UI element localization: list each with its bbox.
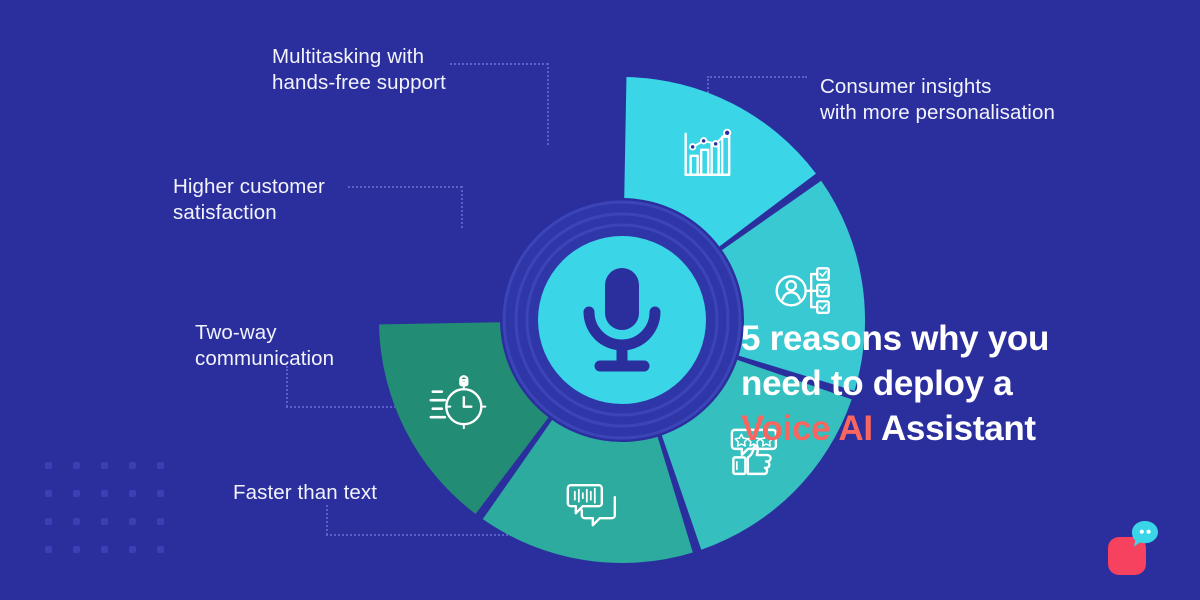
dot-grid-dot — [101, 462, 108, 469]
dot-grid-dot — [45, 546, 52, 553]
segment-label-higher-satisfaction: Higher customer satisfaction — [173, 174, 325, 225]
dot-grid-dot — [157, 546, 164, 553]
dot-grid-dot — [101, 546, 108, 553]
headline-line-3-rest: Assistant — [873, 409, 1036, 448]
segment-label-consumer-insights: Consumer insights with more personalisat… — [820, 74, 1055, 125]
dot-grid-row — [45, 546, 185, 574]
segment-label-multitasking: Multitasking with hands-free support — [272, 44, 446, 95]
headline: 5 reasons why you need to deploy a Voice… — [741, 316, 1161, 451]
dot-grid-dot — [101, 518, 108, 525]
dot-grid-dot — [157, 518, 164, 525]
dot-grid-dot — [129, 546, 136, 553]
dot-grid-row — [45, 490, 185, 518]
dot-grid-dot — [101, 490, 108, 497]
dot-grid-dot — [129, 462, 136, 469]
decorative-dot-grid — [45, 462, 185, 574]
headline-line-1: 5 reasons why you — [741, 316, 1161, 361]
infographic-canvas: Consumer insights with more personalisat… — [0, 0, 1200, 600]
headline-accent: Voice AI — [741, 409, 873, 448]
dot-grid-dot — [45, 462, 52, 469]
dot-grid-dot — [73, 518, 80, 525]
headline-line-2: need to deploy a — [741, 361, 1161, 406]
dot-grid-dot — [157, 462, 164, 469]
dot-grid-dot — [129, 518, 136, 525]
dot-grid-row — [45, 462, 185, 490]
dot-grid-dot — [45, 490, 52, 497]
segment-label-faster-than-text: Faster than text — [233, 480, 377, 506]
dot-grid-row — [45, 518, 185, 546]
headline-line-3: Voice AI Assistant — [741, 406, 1161, 451]
dot-grid-dot — [45, 518, 52, 525]
dot-grid-dot — [157, 490, 164, 497]
segment-label-two-way-communication: Two-way communication — [195, 320, 334, 371]
dot-grid-dot — [73, 490, 80, 497]
dot-grid-dot — [129, 490, 136, 497]
dot-grid-dot — [73, 462, 80, 469]
dot-grid-dot — [73, 546, 80, 553]
brand-badge — [1108, 520, 1170, 576]
chat-bubble-logo-icon — [1130, 520, 1160, 548]
